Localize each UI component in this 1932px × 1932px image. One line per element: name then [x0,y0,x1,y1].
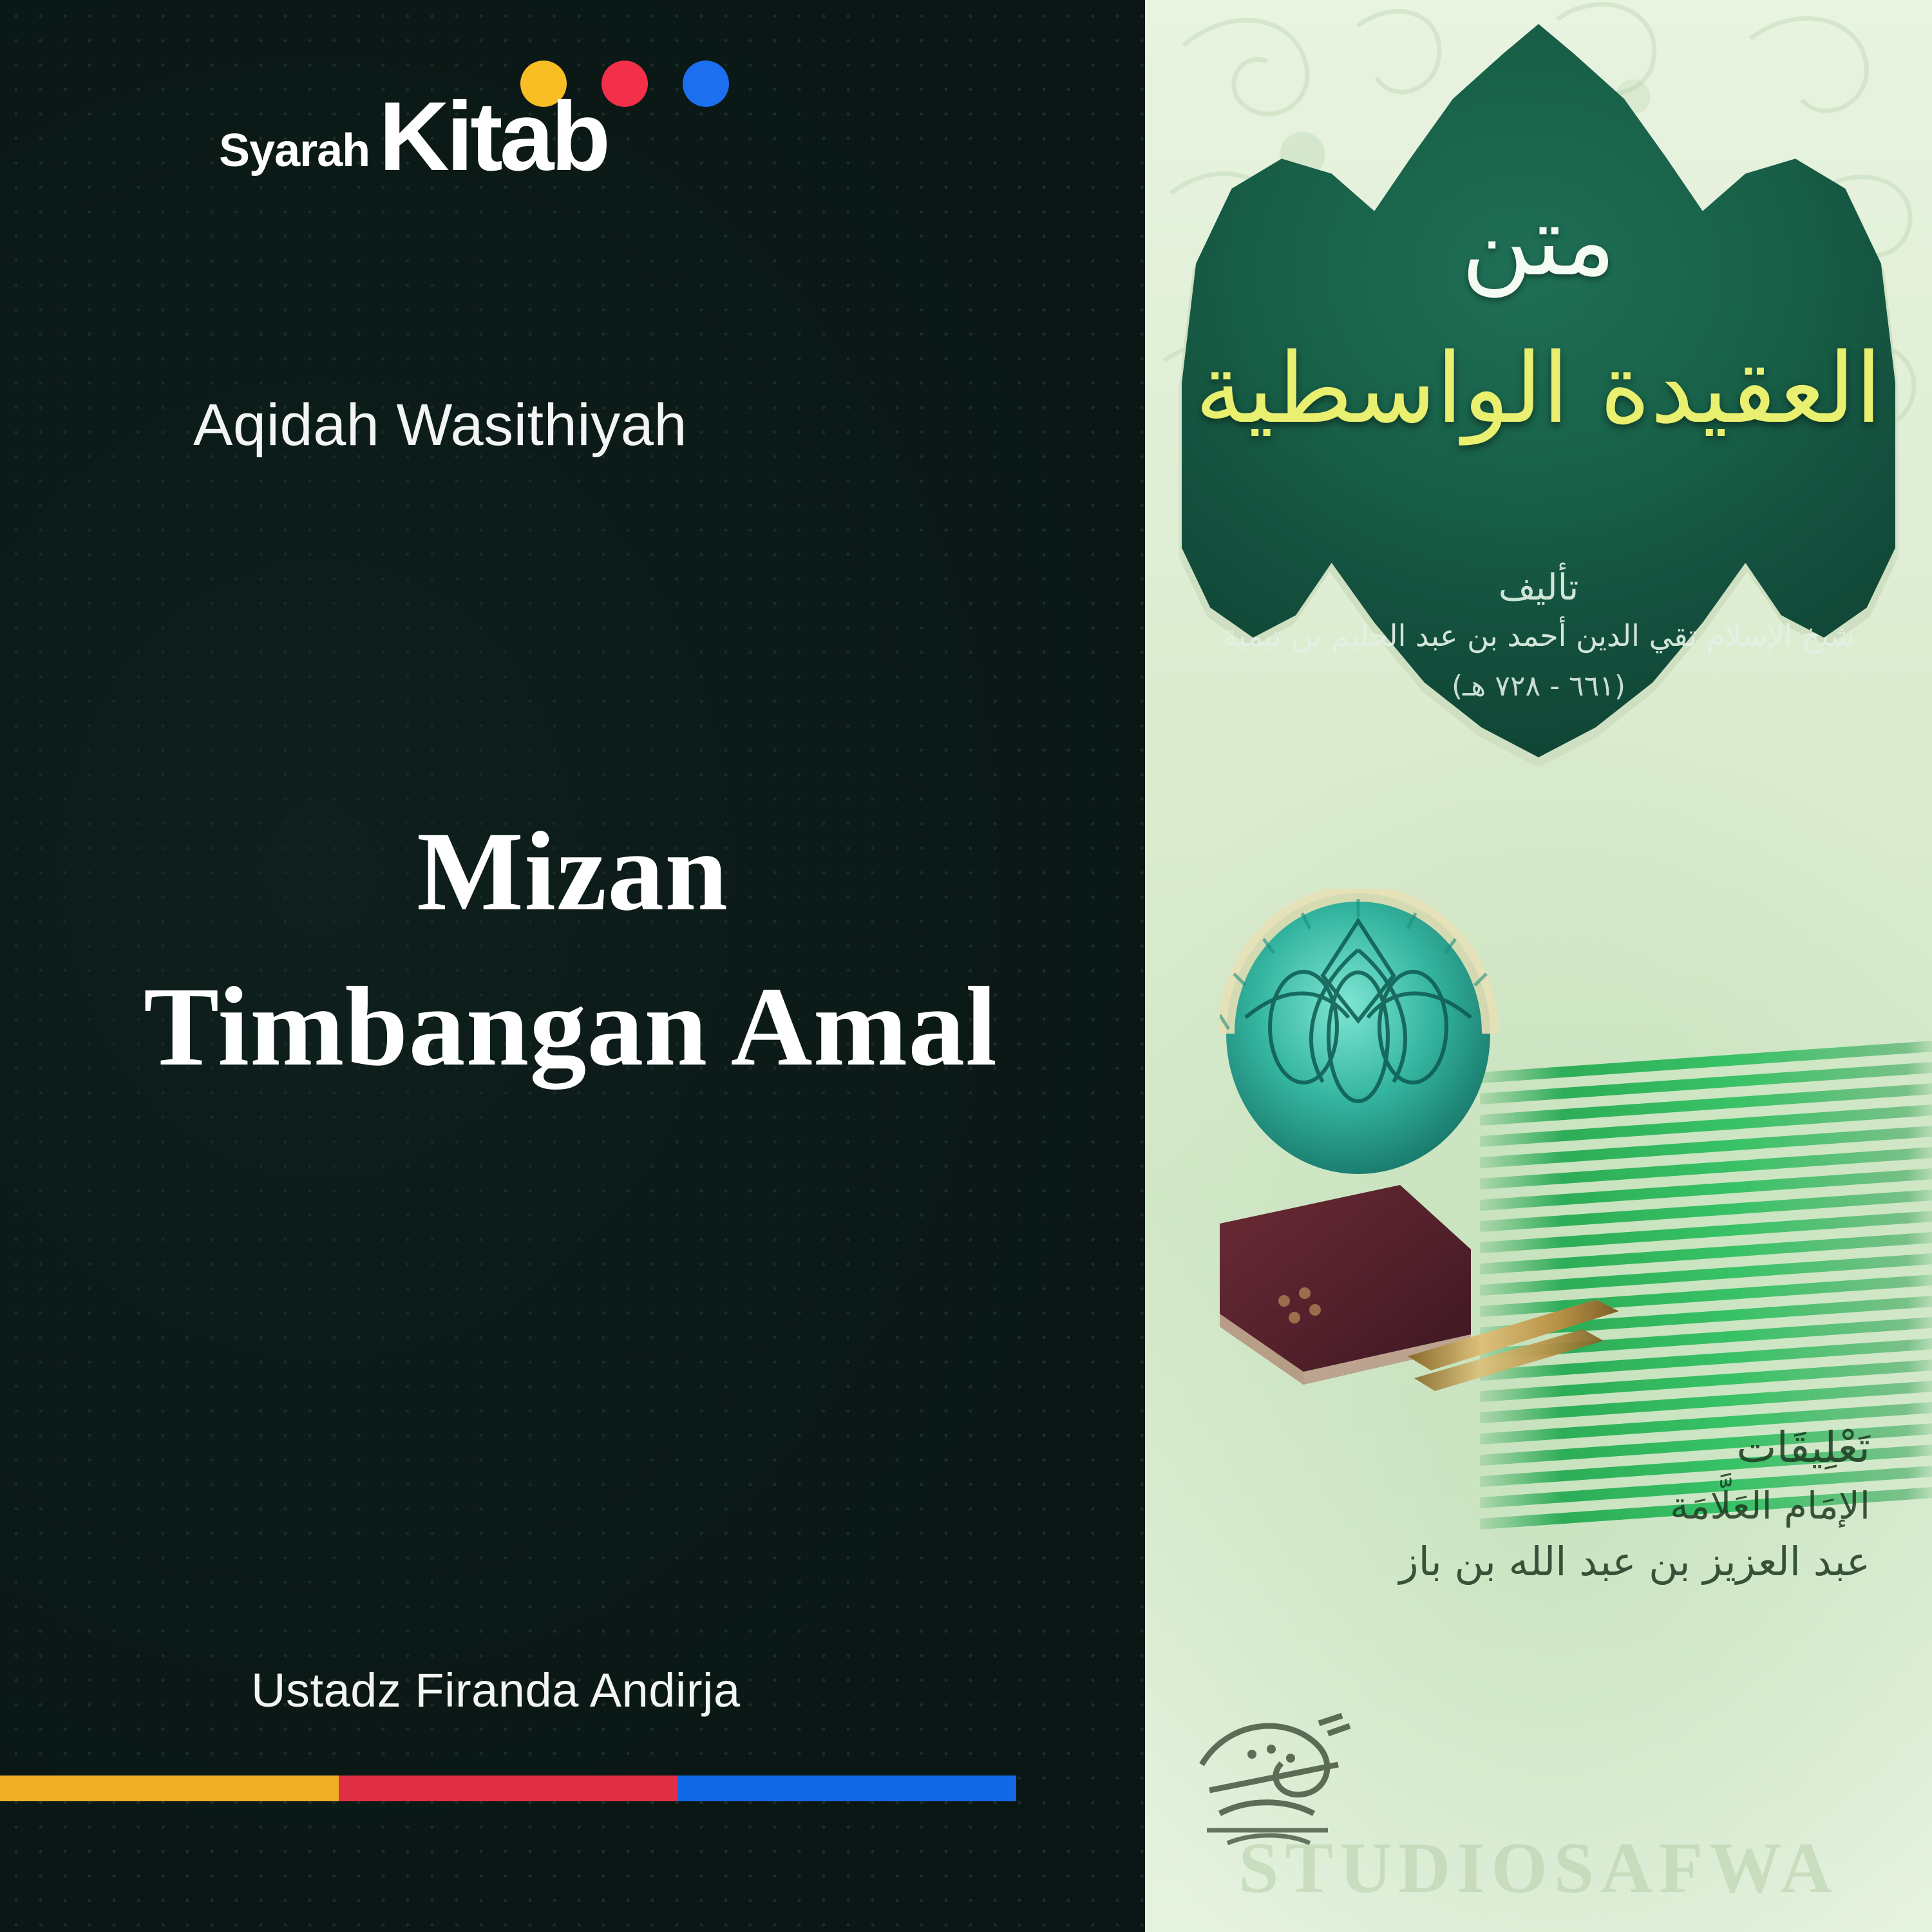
accent-bar-segment-blue [677,1776,1016,1801]
episode-title-line-2: Timbangan Amal [0,963,1145,1090]
brand-logo[interactable]: Syarah Kitab [219,44,799,185]
cover-matn-label: متن [1145,193,1932,290]
accent-bar-segment-red [339,1776,677,1801]
cover-annotations-line-3: عبد العزيز بن عبد الله بن باز [1399,1533,1870,1591]
accent-color-bar [0,1776,1016,1801]
golden-pen-icon [1403,1294,1634,1391]
cover-arabic-title: العقيدة الواسطية [1145,335,1932,443]
blue-dot-icon [683,61,729,107]
cover-annotations-line-2: الإمَام العَلَّامَة [1399,1479,1870,1533]
brand-name-main: Kitab [379,88,607,185]
episode-title-line-1: Mizan [0,808,1145,935]
cover-author-dates: (٦٦١ - ٧٢٨ هـ) [1145,670,1932,703]
book-cover-image: متن العقيدة الواسطية تأليف شيخ الإسلام ت… [1145,0,1932,1932]
red-dot-icon [601,61,648,107]
brand-name-prefix: Syarah [219,128,370,174]
episode-title: Mizan Timbangan Amal [0,808,1145,1090]
cover-authored-by-label: تأليف [1145,567,1932,609]
cover-annotations: تَعْلِيقَات الإمَام العَلَّامَة عبد العز… [1399,1417,1870,1591]
podcast-cover-art: Syarah Kitab Aqidah Wasithiyah Mizan Tim… [0,0,1932,1932]
publisher-logo-icon [1190,1694,1364,1855]
speaker-name: Ustadz Firanda Andirja [251,1663,741,1718]
brand-wordmark: Syarah Kitab [219,84,607,182]
title-panel: Syarah Kitab Aqidah Wasithiyah Mizan Tim… [0,0,1145,1932]
series-subtitle: Aqidah Wasithiyah [193,392,687,459]
cover-annotations-line-1: تَعْلِيقَات [1736,1423,1870,1472]
accent-bar-segment-amber [0,1776,339,1801]
cover-author-name: شيخ الإسلام تقي الدين أحمد بن عبد الحليم… [1145,618,1932,653]
